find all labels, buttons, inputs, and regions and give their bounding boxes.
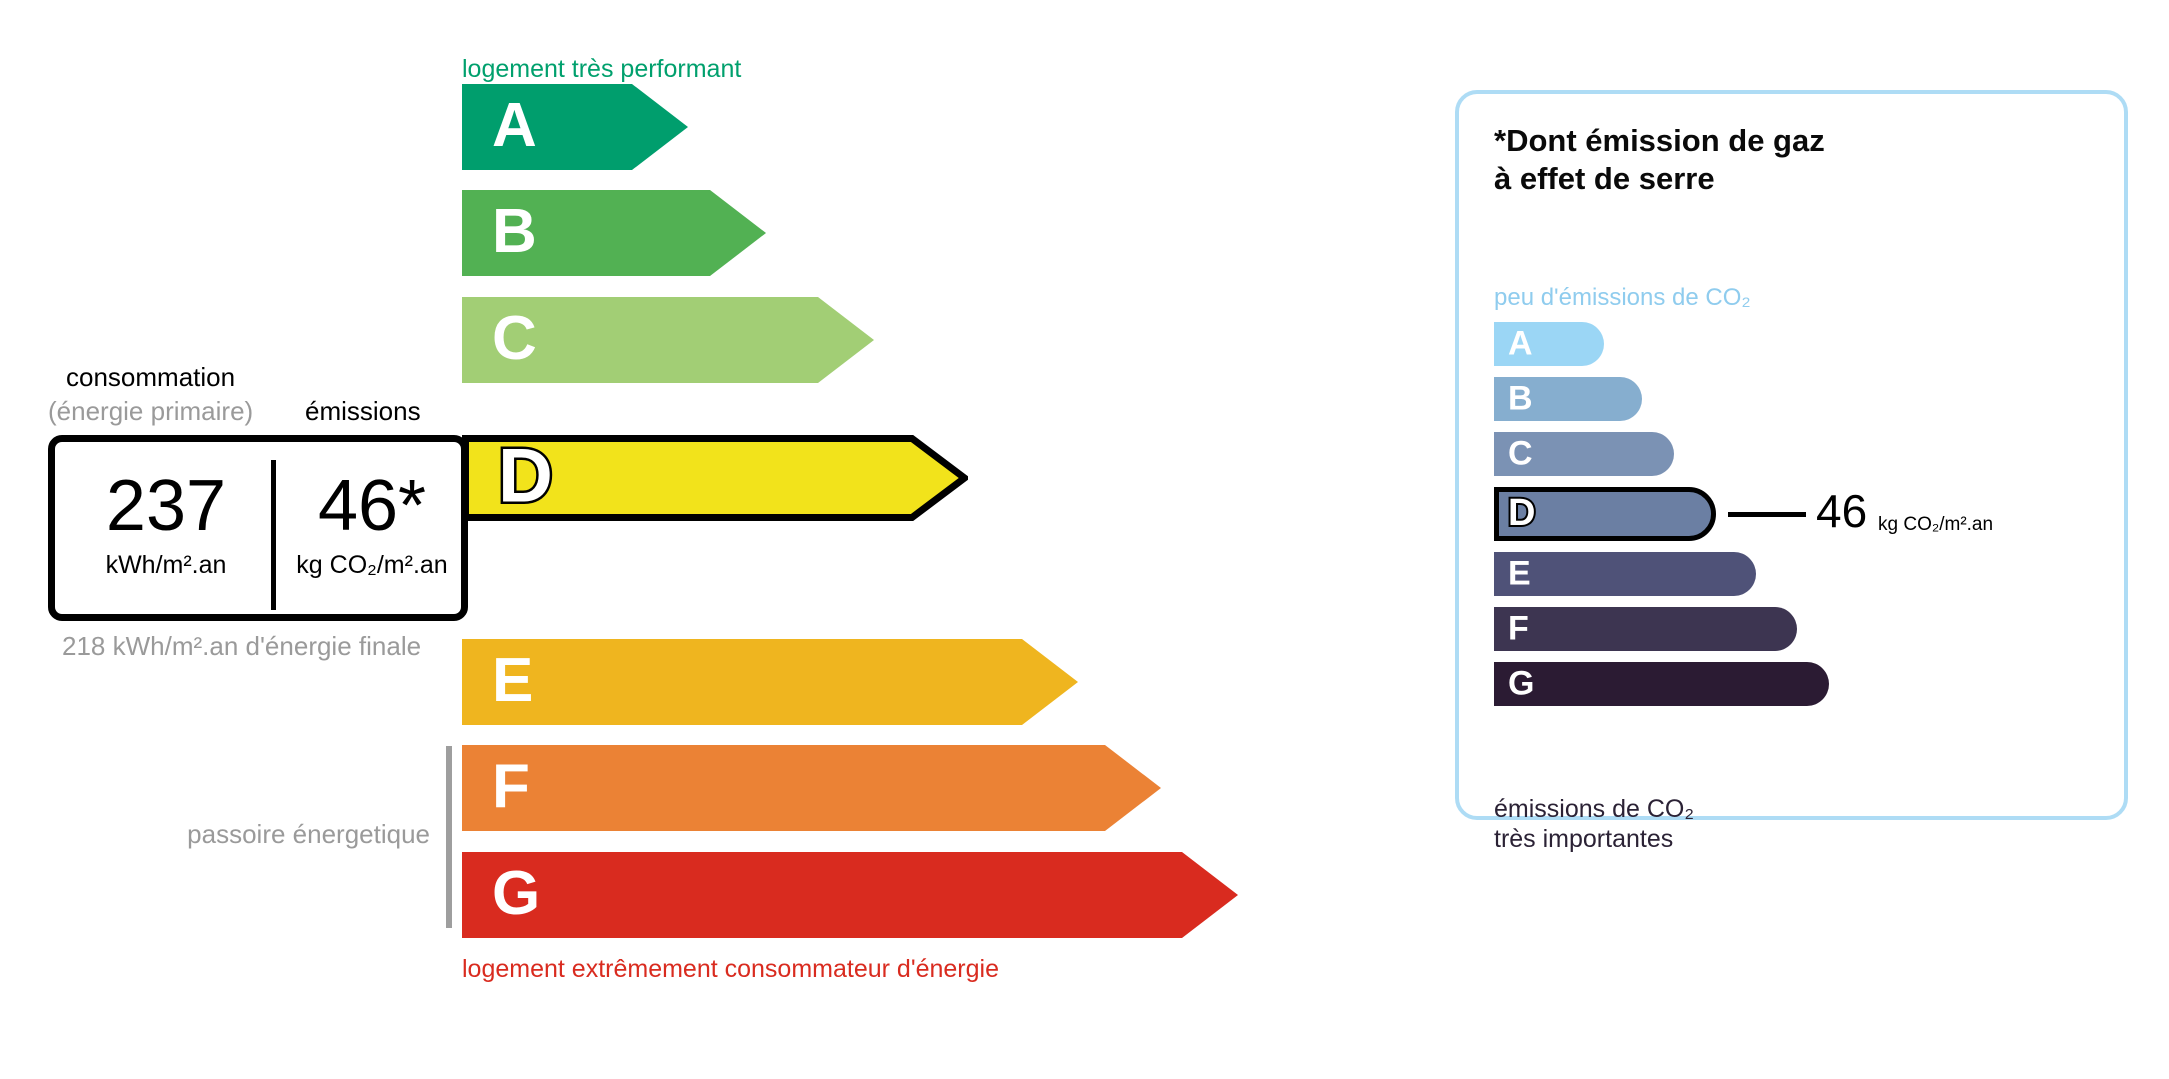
energy-band-a: A xyxy=(462,84,688,170)
band-letter: G xyxy=(492,863,540,925)
co2-emission-panel: *Dont émission de gaz à effet de serre p… xyxy=(1455,90,2128,820)
scale-bottom-caption: logement extrêmement consommateur d'éner… xyxy=(462,955,999,984)
value-box-divider xyxy=(271,460,276,610)
energy-band-b: B xyxy=(462,190,766,276)
co2-bar-letter: D xyxy=(1508,494,1535,532)
band-letter: F xyxy=(492,756,530,818)
band-arrow-shape: C xyxy=(462,297,874,383)
energy-band-g: G xyxy=(462,852,1238,938)
co2-bar-b: B xyxy=(1494,377,1642,421)
co2-bar-shape xyxy=(1494,552,1756,596)
label-consommation: consommation xyxy=(66,362,235,393)
co2-bar-c: C xyxy=(1494,432,1674,476)
co2-bar-a: A xyxy=(1494,322,1604,366)
emission-value-cell: 46* kg CO₂/m².an xyxy=(277,464,467,580)
consumption-unit: kWh/m².an xyxy=(63,550,269,580)
final-energy-note: 218 kWh/m².an d'énergie finale xyxy=(62,630,421,662)
band-arrow-shape: D xyxy=(462,435,968,521)
co2-value-unit: kg CO₂/m².an xyxy=(1878,514,1993,536)
energy-band-d: D xyxy=(462,435,968,521)
passoire-bracket xyxy=(446,746,452,928)
band-letter: E xyxy=(492,650,533,712)
co2-leader-line xyxy=(1728,512,1806,517)
consumption-value: 237 xyxy=(63,464,269,548)
energy-band-e: E xyxy=(462,639,1078,725)
emission-value: 46* xyxy=(277,464,467,548)
co2-bar-shape xyxy=(1494,607,1797,651)
value-box: 237 kWh/m².an 46* kg CO₂/m².an xyxy=(48,435,468,621)
consumption-value-cell: 237 kWh/m².an xyxy=(63,464,269,580)
passoire-label: passoire énergetique xyxy=(180,818,430,850)
energy-band-f: F xyxy=(462,745,1161,831)
co2-bar-e: E xyxy=(1494,552,1756,596)
band-arrow-shape: A xyxy=(462,84,688,170)
label-emissions: émissions xyxy=(305,396,421,427)
energy-band-c: C xyxy=(462,297,874,383)
co2-panel-title: *Dont émission de gaz à effet de serre xyxy=(1494,122,1825,198)
co2-bar-f: F xyxy=(1494,607,1797,651)
co2-bar-letter: A xyxy=(1508,326,1533,360)
scale-top-caption: logement très performant xyxy=(462,55,741,84)
co2-bar-letter: F xyxy=(1508,611,1529,645)
band-arrow-shape: G xyxy=(462,852,1238,938)
band-letter: B xyxy=(492,201,537,263)
co2-bar-d: D xyxy=(1494,492,1716,536)
co2-bar-letter: C xyxy=(1508,436,1533,470)
band-letter: D xyxy=(498,438,553,514)
co2-bottom-caption: émissions de CO₂ très importantes xyxy=(1494,794,1694,854)
energy-performance-scale: logement très performant ABCDEFG consomm… xyxy=(0,0,1400,1079)
co2-bar-letter: E xyxy=(1508,556,1531,590)
co2-bar-letter: G xyxy=(1508,666,1534,700)
co2-bar-g: G xyxy=(1494,662,1829,706)
band-arrow-shape: B xyxy=(462,190,766,276)
co2-bar-letter: B xyxy=(1508,381,1533,415)
label-energie-primaire: (énergie primaire) xyxy=(48,396,253,427)
co2-value: 46 xyxy=(1816,484,1867,538)
emission-unit: kg CO₂/m².an xyxy=(277,550,467,580)
band-letter: C xyxy=(492,308,537,370)
co2-bar-shape xyxy=(1494,662,1829,706)
band-letter: A xyxy=(492,95,537,157)
co2-top-caption: peu d'émissions de CO₂ xyxy=(1494,284,1751,312)
band-arrow-shape: F xyxy=(462,745,1161,831)
band-arrow-shape: E xyxy=(462,639,1078,725)
